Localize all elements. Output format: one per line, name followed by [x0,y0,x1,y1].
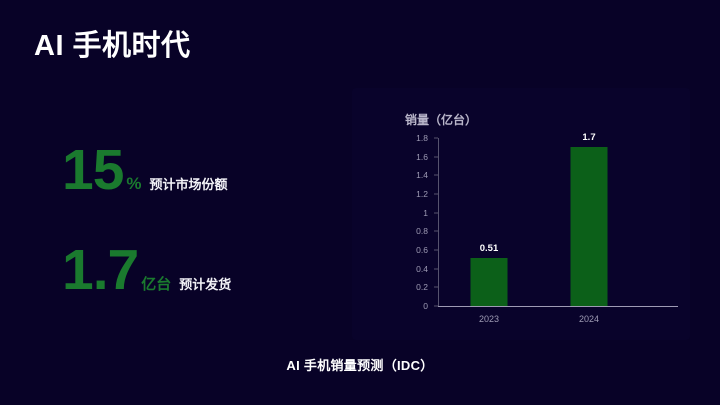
y-axis-tick-label: 1.2 [416,189,428,199]
stat-label-shipments: 预计发货 [179,274,231,293]
bar-chart: 1.81.61.41.210.80.60.40.20 0.511.7 20232… [398,138,680,320]
stat-item-market-share: 15 % 预计市场份额 [62,142,332,204]
x-axis-tick-label: 2024 [539,314,639,324]
y-axis-tick-label: 1.8 [416,133,428,143]
slide-canvas: AI 手机时代 15 % 预计市场份额 1.7 亿台 预计发货 销量（亿台） 1… [0,0,720,405]
bar[interactable] [571,147,608,306]
stat-item-shipments: 1.7 亿台 预计发货 [62,242,332,304]
x-axis-tick-label: 2023 [439,314,539,324]
bar-slot: 1.7 [539,138,639,306]
bar-value-label: 0.51 [480,243,499,254]
y-axis-tick-label: 0.4 [416,264,428,274]
chart-caption: AI 手机销量预测（IDC） [0,355,720,374]
y-axis-tick-label: 0.6 [416,245,428,255]
y-axis-tick-label: 1.4 [416,170,428,180]
stat-label-market-share: 预计市场份额 [150,174,228,193]
y-axis-tick-label: 1 [423,208,428,218]
bar[interactable] [471,258,508,306]
stat-unit-yitai: 亿台 [141,273,171,294]
stats-group: 15 % 预计市场份额 1.7 亿台 预计发货 [62,142,332,304]
y-axis: 1.81.61.41.210.80.60.40.20 [398,138,434,306]
y-axis-tick-label: 0.2 [416,282,428,292]
x-axis-line [438,306,678,307]
page-title: AI 手机时代 [34,22,191,64]
stat-value-shipments: 1.7 [62,242,138,299]
bar-value-label: 1.7 [582,132,595,143]
stat-unit-percent: % [126,174,141,194]
bar-slot: 0.51 [439,138,539,306]
y-axis-tick-label: 1.6 [416,152,428,162]
plot-area: 0.511.7 [439,138,639,306]
y-axis-tick-label: 0.8 [416,226,428,236]
y-axis-tick-label: 0 [423,301,428,311]
stat-value-market-share: 15 [62,142,123,199]
chart-title: 销量（亿台） [405,111,477,128]
